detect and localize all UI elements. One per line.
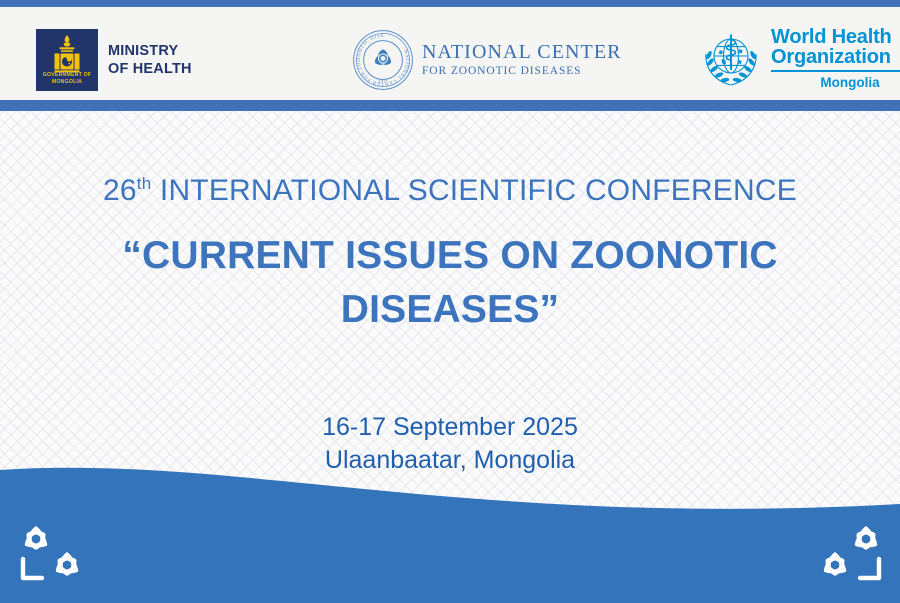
conference-theme-line1: “CURRENT ISSUES ON ZOONOTIC [0,229,900,283]
national-center-label-line1: NATIONAL CENTER [422,42,622,63]
event-location: Ulaanbaatar, Mongolia [0,444,900,477]
logo-header: GOVERNMENT OF MONGOLIA MINISTRY OF HEALT… [0,7,900,100]
who-divider-rule [771,70,900,72]
conference-theme: “CURRENT ISSUES ON ZOONOTIC DISEASES” [0,229,900,337]
ministry-of-health-wordmark: MINISTRY OF HEALTH [108,42,192,78]
who-wordmark: World Health Organization Mongolia [771,27,900,90]
title-block: 26th INTERNATIONAL SCIENTIFIC CONFERENCE… [0,171,900,337]
conference-ordinal-suffix: th [137,174,152,193]
emblem-caption-line2: MONGOLIA [40,79,94,85]
conference-title-slide: GOVERNMENT OF MONGOLIA MINISTRY OF HEALT… [0,0,900,603]
event-details: 16-17 September 2025 Ulaanbaatar, Mongol… [0,411,900,477]
mongolian-knot-icon [810,519,888,589]
who-rod-of-asclepius-icon [700,28,762,90]
who-country-label: Mongolia [771,75,900,90]
mongolia-soyombo-emblem: GOVERNMENT OF MONGOLIA [36,29,98,91]
conference-number: 26 [103,174,137,207]
who-label-line2: Organization [771,47,900,67]
logo-world-health-organization: World Health Organization Mongolia [700,27,900,90]
conference-heading-text: INTERNATIONAL SCIENTIFIC CONFERENCE [151,174,797,207]
conference-heading: 26th INTERNATIONAL SCIENTIFIC CONFERENCE [0,171,900,211]
mongolian-knot-icon [14,519,92,589]
logo-national-center-zoonotic-diseases: NATIONAL CENTER FOR ZOONOTIC DISEASES 19… [352,29,622,91]
svg-text:1931: 1931 [378,79,389,84]
soyombo-icon [50,34,84,74]
conference-theme-line2: DISEASES” [0,283,900,337]
mongolian-knot-ornament-right [810,519,888,594]
logo-ministry-of-health: GOVERNMENT OF MONGOLIA MINISTRY OF HEALT… [36,29,192,91]
who-label-line1: World Health [771,27,900,47]
ministry-label-line1: MINISTRY [108,42,192,60]
top-accent-bar [0,0,900,7]
ministry-label-line2: OF HEALTH [108,60,192,78]
biohazard-seal-icon: NATIONAL CENTER FOR ZOONOTIC DISEASES 19… [352,29,414,91]
svg-text:NATIONAL CENTER FOR ZOONOTIC D: NATIONAL CENTER FOR ZOONOTIC DISEASES [352,29,410,87]
slide-body: 26th INTERNATIONAL SCIENTIFIC CONFERENCE… [0,111,900,603]
national-center-wordmark: NATIONAL CENTER FOR ZOONOTIC DISEASES [422,42,622,77]
emblem-caption-line1: GOVERNMENT OF [40,72,94,78]
mongolian-knot-ornament-left [14,519,92,594]
national-center-label-line2: FOR ZOONOTIC DISEASES [422,65,622,77]
header-divider-bar [0,100,900,111]
event-date: 16-17 September 2025 [0,411,900,444]
